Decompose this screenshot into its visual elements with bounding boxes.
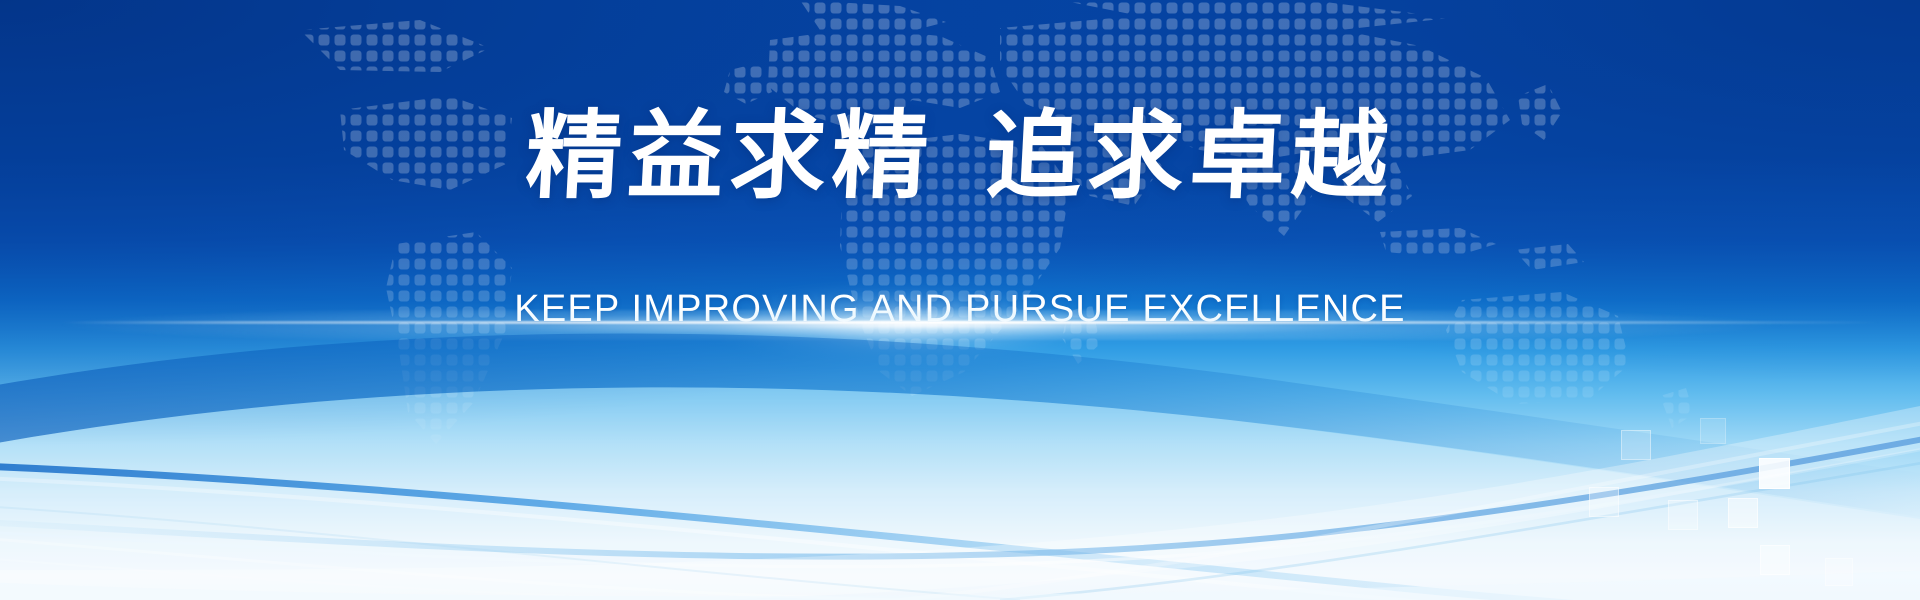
wave-streak-right-2: [1000, 460, 1920, 600]
headline-text: 精益求精追求卓越: [523, 108, 1396, 204]
wave-ribbon-1: [0, 466, 1920, 600]
subline-block: KEEP IMPROVING AND PURSUE EXCELLENCE: [0, 288, 1920, 331]
wave-streak-right-1: [900, 420, 1920, 600]
square-7: [1825, 558, 1853, 586]
horizon-light-core: [60, 321, 1880, 324]
beam-glow: [640, 280, 1160, 370]
headline-primary: 精益求精: [523, 99, 937, 212]
wave-streak-3: [0, 506, 1020, 600]
wave-streak-1: [0, 538, 900, 600]
wave-ribbon-1-highlight: [0, 478, 1920, 600]
wave-pale-sweep: [0, 402, 1920, 600]
wave-streak-2: [0, 558, 780, 600]
square-6: [1760, 545, 1790, 575]
square-5: [1759, 458, 1790, 489]
subline-text: KEEP IMPROVING AND PURSUE EXCELLENCE: [514, 288, 1405, 331]
dotted-world-map: [300, 0, 1720, 470]
flowing-wave-ribbons: [0, 270, 1920, 600]
square-2: [1621, 430, 1651, 460]
square-8: [1700, 418, 1726, 444]
right-vignette-overlay: [0, 0, 1920, 600]
horizon-light-beam: [0, 310, 1920, 340]
wave-base-glow: [0, 570, 1920, 600]
headline-secondary: 追求卓越: [983, 99, 1397, 212]
wave-ribbon-2-highlight: [0, 446, 1920, 567]
square-3: [1668, 500, 1698, 530]
wave-ribbon-2: [0, 436, 1920, 557]
wave-bright-sheet: [0, 387, 1920, 600]
hero-banner: 精益求精追求卓越 KEEP IMPROVING AND PURSUE EXCEL…: [0, 0, 1920, 600]
headline-block: 精益求精追求卓越: [0, 108, 1920, 204]
square-1: [1589, 487, 1619, 517]
wave-dark-arc: [0, 333, 1920, 520]
left-vignette-overlay: [0, 0, 1920, 600]
square-4: [1728, 498, 1758, 528]
